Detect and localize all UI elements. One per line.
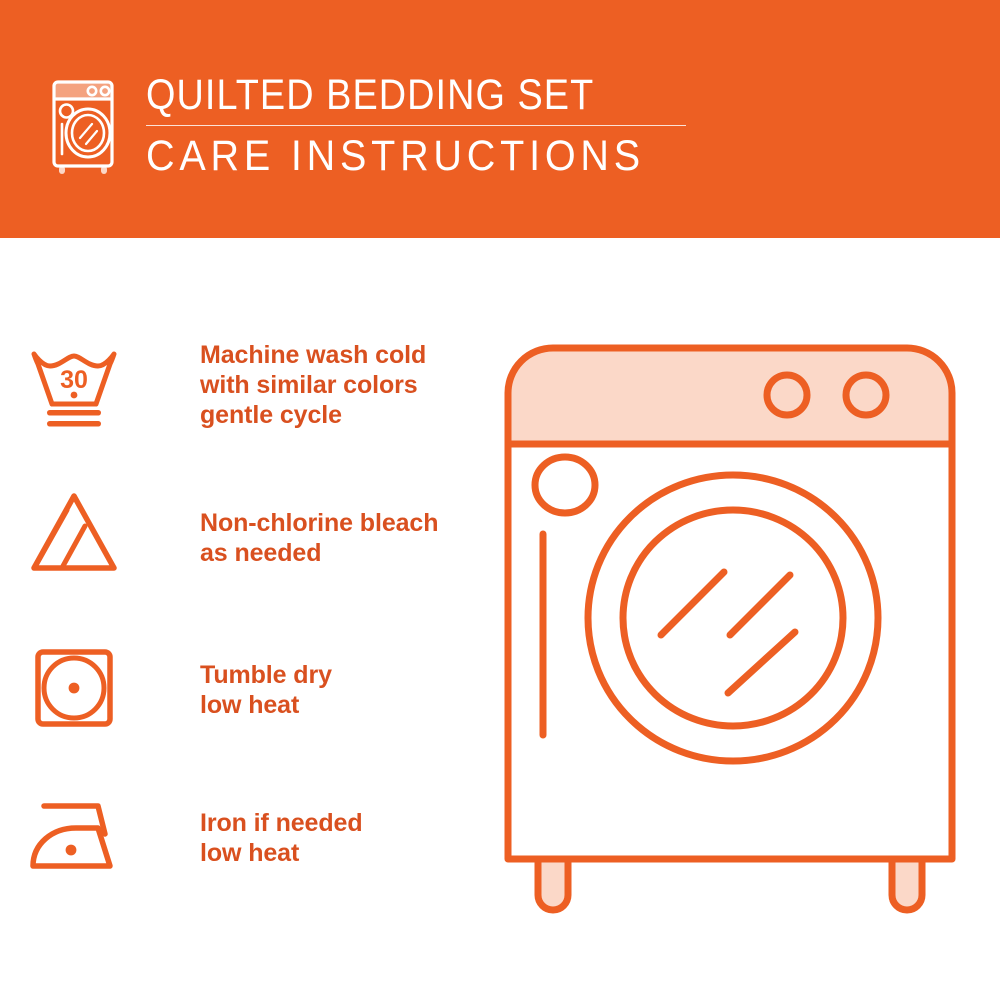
care-label-line: low heat xyxy=(200,838,470,868)
care-instruction-list: 30 Machine wash cold with similar colors… xyxy=(0,238,470,1000)
care-row: 30 Machine wash cold with similar colors… xyxy=(0,338,470,434)
care-label: Tumble dry low heat xyxy=(130,638,470,720)
care-label-line: Non-chlorine bleach xyxy=(200,508,470,538)
door-inner-ring xyxy=(623,510,843,726)
wash-tub-30-gentle-icon: 30 xyxy=(0,338,130,434)
machine-leg xyxy=(892,859,922,910)
machine-leg xyxy=(538,859,568,910)
care-label: Machine wash cold with similar colors ge… xyxy=(130,338,470,430)
care-label-line: gentle cycle xyxy=(200,400,470,430)
title-divider xyxy=(146,125,686,126)
door-shine-line xyxy=(730,575,790,635)
front-load-washing-machine-illustration xyxy=(495,335,965,925)
tumble-dry-low-icon xyxy=(0,638,130,734)
header-content: QUILTED BEDDING SET CARE INSTRUCTIONS xyxy=(48,72,688,180)
iron-low-heat-icon xyxy=(0,788,130,884)
page-subtitle: CARE INSTRUCTIONS xyxy=(146,132,645,180)
non-chlorine-bleach-triangle-icon xyxy=(0,486,130,582)
care-label-line: Machine wash cold xyxy=(200,340,470,370)
care-row: Iron if needed low heat xyxy=(0,788,470,884)
care-label-line: as needed xyxy=(200,538,470,568)
header-banner: QUILTED BEDDING SET CARE INSTRUCTIONS xyxy=(0,0,1000,238)
indicator-circle xyxy=(535,457,595,513)
door-outer-ring xyxy=(588,475,878,761)
care-label: Iron if needed low heat xyxy=(130,788,470,868)
care-label-line: with similar colors xyxy=(200,370,470,400)
door-shine-line xyxy=(728,632,795,693)
care-label-line: Iron if needed xyxy=(200,808,470,838)
care-row: Tumble dry low heat xyxy=(0,638,470,734)
wash-temp-value: 30 xyxy=(60,366,88,394)
header-text-block: QUILTED BEDDING SET CARE INSTRUCTIONS xyxy=(146,72,688,180)
washing-machine-icon xyxy=(48,74,124,178)
care-label-line: low heat xyxy=(200,690,470,720)
care-label-line: Tumble dry xyxy=(200,660,470,690)
page-title: QUILTED BEDDING SET xyxy=(146,72,623,118)
door-shine-line xyxy=(661,572,724,635)
care-instructions-page: QUILTED BEDDING SET CARE INSTRUCTIONS 30 xyxy=(0,0,1000,1000)
care-row: Non-chlorine bleach as needed xyxy=(0,486,470,582)
care-label: Non-chlorine bleach as needed xyxy=(130,486,470,568)
